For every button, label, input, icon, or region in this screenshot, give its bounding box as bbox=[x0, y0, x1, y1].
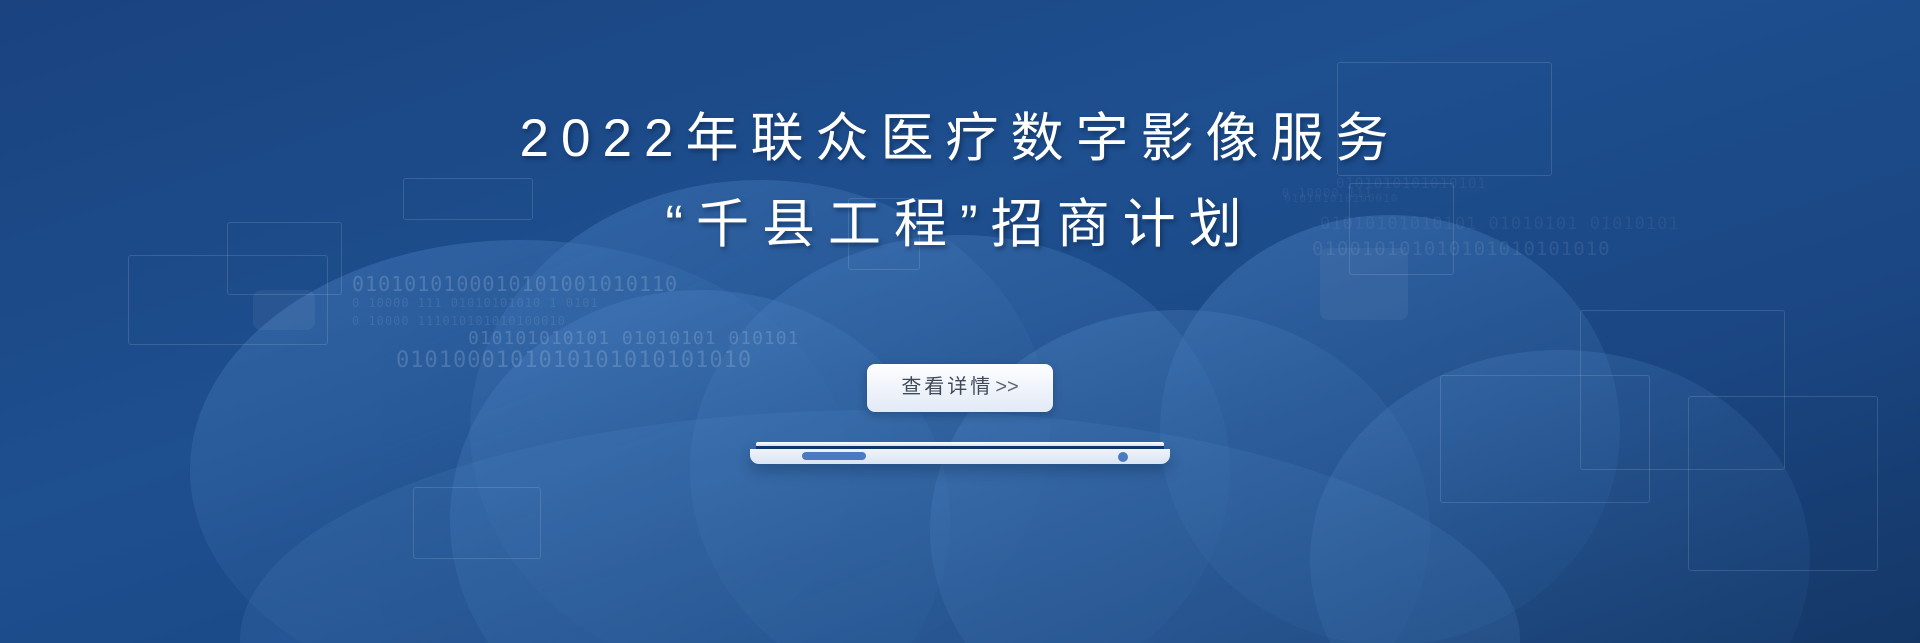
binary-text-4: 010101010101 01010101 010101 bbox=[468, 328, 799, 349]
cta-row: 查看详情>> bbox=[0, 364, 1920, 412]
binary-text-3: 0 10000 111010101010100010 bbox=[352, 314, 566, 328]
promo-banner: 0101010100010101001010110 0 10000 111 01… bbox=[0, 0, 1920, 643]
binary-text-2: 0 10000 111 01010101010 1 0101 bbox=[352, 296, 599, 310]
binary-text-1: 0101010100010101001010110 bbox=[352, 272, 678, 296]
decor-rect-10 bbox=[1688, 396, 1878, 571]
chevron-right-icon: >> bbox=[995, 376, 1018, 398]
laptop-indicator-dot-icon bbox=[1118, 452, 1128, 462]
laptop-trackpad-icon bbox=[802, 452, 866, 460]
view-details-button[interactable]: 查看详情>> bbox=[867, 364, 1052, 412]
title-line-1: 2022年联众医疗数字影像服务 bbox=[0, 96, 1920, 182]
laptop-illustration bbox=[750, 442, 1170, 470]
banner-title: 2022年联众医疗数字影像服务 “千县工程”招商计划 bbox=[0, 96, 1920, 268]
decor-rect-3 bbox=[413, 487, 541, 559]
decor-rect-fill-1 bbox=[253, 290, 315, 330]
title-line-2: “千县工程”招商计划 bbox=[0, 182, 1920, 268]
cta-label: 查看详情 bbox=[901, 376, 993, 398]
